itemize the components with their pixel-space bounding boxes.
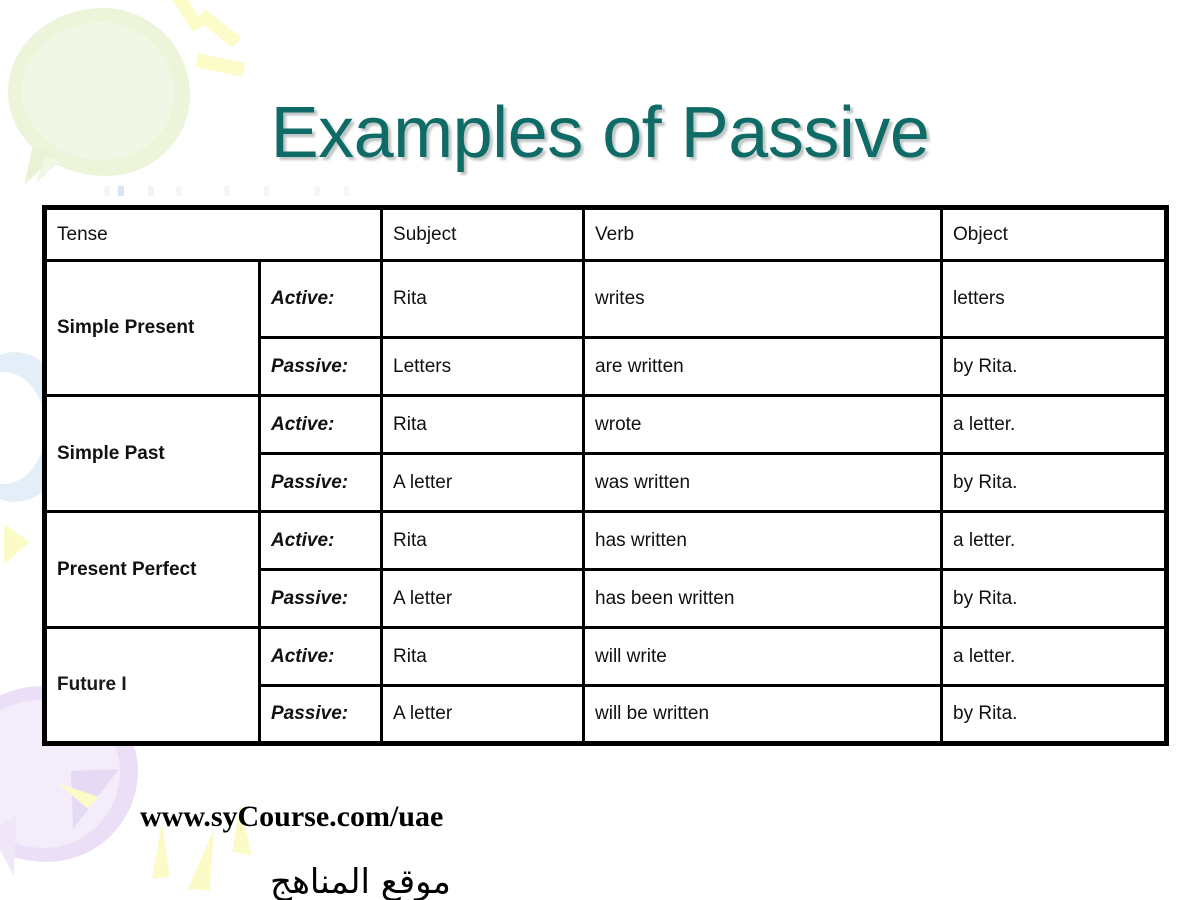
table-row: Future I Active: Rita will write a lette… bbox=[45, 628, 1167, 686]
object-cell: by Rita. bbox=[942, 454, 1167, 512]
ray-yellow-icon bbox=[195, 53, 245, 77]
speech-bubble-purple-tail2-icon bbox=[0, 816, 40, 876]
clipped-text-artifact bbox=[104, 186, 434, 196]
column-header-tense: Tense bbox=[45, 208, 382, 261]
voice-label: Passive: bbox=[260, 686, 382, 744]
subject-cell: A letter bbox=[382, 570, 584, 628]
voice-label: Passive: bbox=[260, 338, 382, 396]
verb-cell: will be written bbox=[584, 686, 942, 744]
subject-cell: A letter bbox=[382, 454, 584, 512]
verb-cell: has written bbox=[584, 512, 942, 570]
object-cell: a letter. bbox=[942, 512, 1167, 570]
table-row: Simple Present Active: Rita writes lette… bbox=[45, 261, 1167, 338]
voice-label: Active: bbox=[260, 396, 382, 454]
verb-cell: was written bbox=[584, 454, 942, 512]
verb-cell: has been written bbox=[584, 570, 942, 628]
slide-title: Examples of Passive bbox=[0, 92, 1200, 174]
passive-voice-table: Tense Subject Verb Object Simple Present… bbox=[42, 205, 1169, 746]
subject-cell: Rita bbox=[382, 512, 584, 570]
voice-label: Active: bbox=[260, 261, 382, 338]
ray-yellow-icon bbox=[188, 827, 214, 890]
ray-yellow-icon bbox=[58, 771, 99, 809]
voice-label: Passive: bbox=[260, 454, 382, 512]
voice-label: Passive: bbox=[260, 570, 382, 628]
arc-blue-cutout-icon bbox=[0, 372, 46, 484]
table-row: Simple Past Active: Rita wrote a letter. bbox=[45, 396, 1167, 454]
verb-cell: will write bbox=[584, 628, 942, 686]
tense-label: Present Perfect bbox=[45, 512, 260, 628]
voice-label: Active: bbox=[260, 628, 382, 686]
object-cell: by Rita. bbox=[942, 686, 1167, 744]
subject-cell: Rita bbox=[382, 396, 584, 454]
object-cell: by Rita. bbox=[942, 338, 1167, 396]
slide-canvas: Examples of Passive Tense Subject Verb O… bbox=[0, 0, 1200, 900]
footer-arabic-text: موقع المناهج bbox=[270, 862, 451, 900]
object-cell: letters bbox=[942, 261, 1167, 338]
ray-yellow-icon bbox=[170, 0, 203, 32]
grammar-table-container: Tense Subject Verb Object Simple Present… bbox=[42, 205, 1164, 746]
object-cell: a letter. bbox=[942, 628, 1167, 686]
column-header-object: Object bbox=[942, 208, 1167, 261]
column-header-subject: Subject bbox=[382, 208, 584, 261]
table-header-row: Tense Subject Verb Object bbox=[45, 208, 1167, 261]
object-cell: by Rita. bbox=[942, 570, 1167, 628]
verb-cell: writes bbox=[584, 261, 942, 338]
tense-label: Simple Present bbox=[45, 261, 260, 396]
verb-cell: are written bbox=[584, 338, 942, 396]
subject-cell: Letters bbox=[382, 338, 584, 396]
speech-bubble-purple-tail-icon bbox=[71, 769, 121, 829]
subject-cell: Rita bbox=[382, 261, 584, 338]
subject-cell: Rita bbox=[382, 628, 584, 686]
verb-cell: wrote bbox=[584, 396, 942, 454]
column-header-verb: Verb bbox=[584, 208, 942, 261]
tense-label: Future I bbox=[45, 628, 260, 744]
footer-website-url[interactable]: www.syCourse.com/uae bbox=[140, 800, 443, 834]
subject-cell: A letter bbox=[382, 686, 584, 744]
voice-label: Active: bbox=[260, 512, 382, 570]
object-cell: a letter. bbox=[942, 396, 1167, 454]
ray-yellow-icon bbox=[4, 524, 30, 564]
ray-yellow-icon bbox=[197, 9, 241, 48]
table-row: Present Perfect Active: Rita has written… bbox=[45, 512, 1167, 570]
tense-label: Simple Past bbox=[45, 396, 260, 512]
